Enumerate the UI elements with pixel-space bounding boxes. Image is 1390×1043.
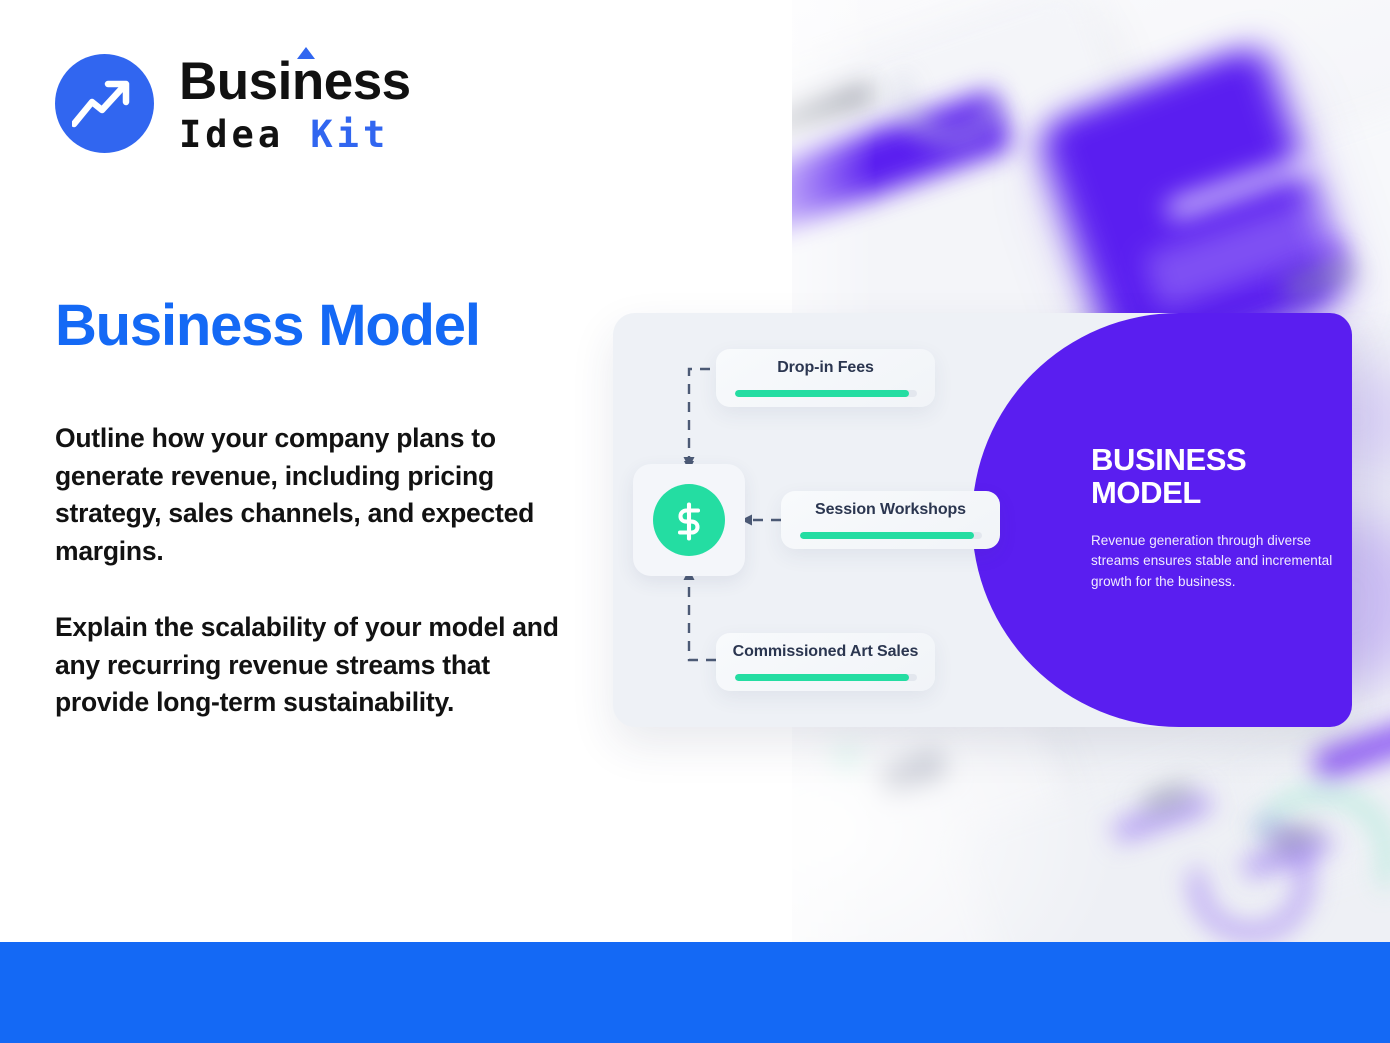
footer-accent-band — [0, 942, 1390, 1043]
purple-panel-description: Revenue generation through diverse strea… — [1091, 531, 1345, 593]
page-title: Business Model — [55, 296, 480, 357]
brand-name-line2: Idea Kit — [179, 116, 411, 153]
revenue-stream-progress-fill — [735, 674, 910, 681]
brand-name-line1-text: Business — [179, 52, 411, 111]
revenue-stream-node[interactable]: Drop-in Fees — [716, 349, 935, 407]
bg-green-dot — [834, 748, 856, 770]
trending-up-arrow-icon — [55, 54, 154, 153]
slide-canvas: Business Idea Kit Business Model Outline… — [0, 0, 1390, 1043]
revenue-stream-label: Session Workshops — [815, 501, 966, 519]
revenue-stream-progress-track — [800, 532, 982, 539]
brand-name-line1: Business — [179, 55, 411, 108]
brand-wordmark: Business Idea Kit — [179, 55, 411, 153]
revenue-stream-progress-fill — [800, 532, 975, 539]
body-paragraph-1: Outline how your company plans to genera… — [55, 420, 585, 571]
dollar-sign-icon — [653, 484, 725, 556]
purple-panel-content: BUSINESS MODEL Revenue generation throug… — [1091, 444, 1345, 593]
revenue-stream-label: Commissioned Art Sales — [733, 643, 919, 661]
revenue-stream-node[interactable]: Commissioned Art Sales — [716, 633, 935, 691]
body-paragraph-2: Explain the scalability of your model an… — [55, 609, 585, 722]
revenue-stream-progress-track — [735, 674, 917, 681]
revenue-stream-label: Drop-in Fees — [777, 359, 874, 377]
purple-panel-title: BUSINESS MODEL — [1091, 444, 1345, 510]
revenue-stream-node[interactable]: Session Workshops — [781, 491, 1000, 549]
brand-logo: Business Idea Kit — [55, 54, 411, 153]
revenue-stream-progress-track — [735, 390, 917, 397]
brand-name-kit-text: Kit — [310, 113, 389, 156]
revenue-stream-progress-fill — [735, 390, 910, 397]
circumflex-accent-icon — [297, 47, 315, 59]
brand-name-idea-text: Idea — [179, 113, 310, 156]
revenue-hub-node — [633, 464, 745, 576]
bg-purple-dot — [1320, 243, 1342, 265]
